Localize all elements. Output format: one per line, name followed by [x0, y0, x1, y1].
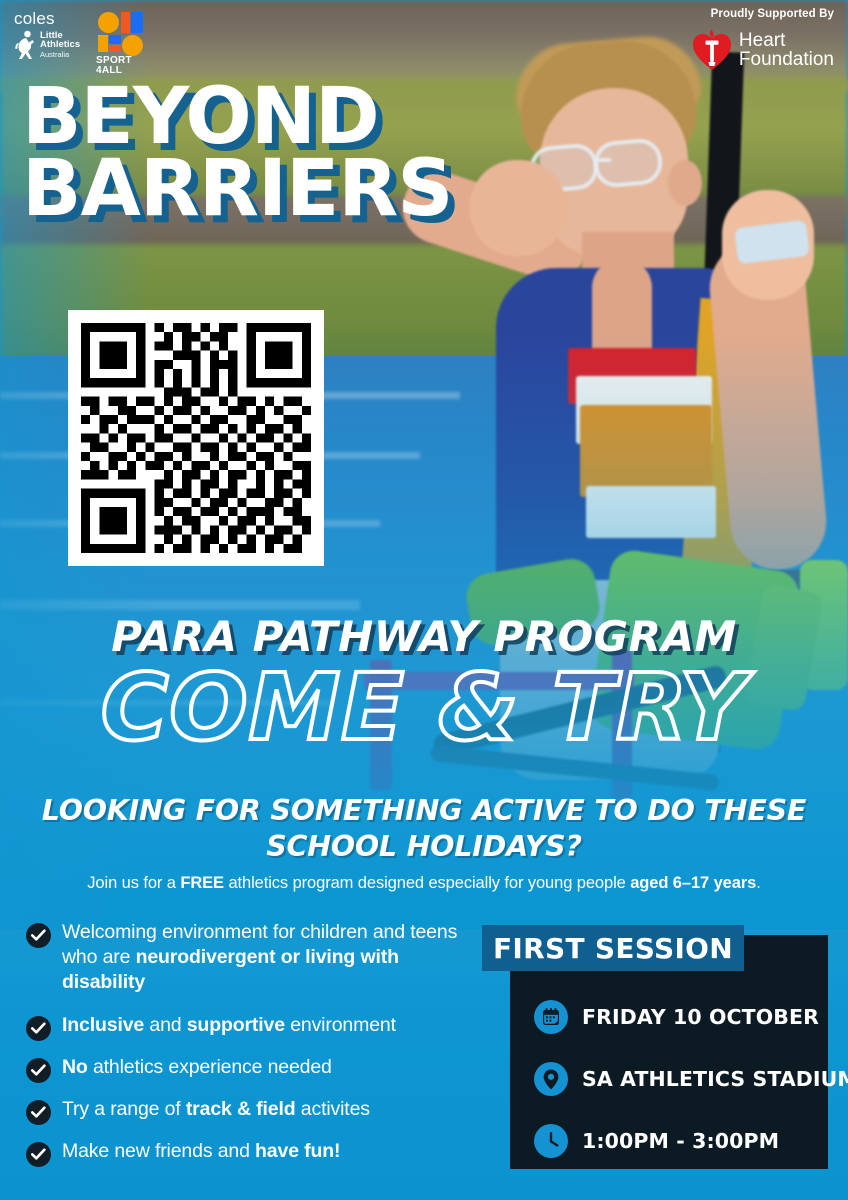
list-item-text-part: supportive — [187, 1014, 285, 1036]
list-item-label: No athletics experience needed — [62, 1055, 332, 1080]
check-icon — [26, 923, 51, 948]
list-item: Try a range of track & field activites — [26, 1097, 474, 1125]
session-detail-label: SA ATHLETICS STADIUM — [582, 1067, 848, 1091]
check-icon — [26, 1142, 51, 1167]
subline-part-2: athletics program designed especially fo… — [224, 874, 630, 892]
list-item-text-part: Try a range of — [62, 1098, 186, 1120]
subline: Join us for a FREE athletics program des… — [24, 873, 824, 894]
list-item-text-part: Inclusive — [62, 1014, 144, 1036]
list-item-text-part: athletics experience needed — [88, 1056, 332, 1078]
list-item-label: Inclusive and supportive environment — [62, 1013, 396, 1038]
subline-part-1: Join us for a — [87, 874, 180, 892]
coles-little-athletics-logo: coles Little Athletics Australia — [14, 10, 92, 72]
check-icon — [26, 1058, 51, 1083]
first-session-heading: FIRST SESSION — [493, 932, 733, 965]
qr-code[interactable] — [68, 310, 324, 566]
session-detail-row: 1:00PM - 3:00PM — [510, 1110, 828, 1172]
heart-foundation-line1: Heart — [739, 31, 834, 50]
session-detail-row: FRIDAY 10 OCTOBER — [510, 986, 828, 1048]
headline-line-2: SCHOOL HOLIDAYS? — [24, 829, 824, 865]
poster-root: coles Little Athletics Australia SPORT 4… — [0, 0, 848, 1200]
list-item: Welcoming environment for children and t… — [26, 920, 474, 995]
list-item-label: Welcoming environment for children and t… — [62, 920, 474, 995]
first-session-heading-band: FIRST SESSION — [482, 925, 744, 971]
clock-icon — [534, 1124, 568, 1158]
list-item: Inclusive and supportive environment — [26, 1013, 474, 1041]
session-detail-label: FRIDAY 10 OCTOBER — [582, 1005, 819, 1029]
list-item: No athletics experience needed — [26, 1055, 474, 1083]
list-item-label: Make new friends and have fun! — [62, 1139, 340, 1164]
location-pin-icon — [534, 1062, 568, 1096]
subline-free: FREE — [180, 874, 224, 892]
list-item: Make new friends and have fun! — [26, 1139, 474, 1167]
check-icon — [26, 1016, 51, 1041]
supporter-label: Proudly Supported By — [692, 8, 834, 20]
list-item-text-part: and — [144, 1014, 187, 1036]
coles-wordmark: coles — [14, 10, 92, 27]
heart-foundation-line2: Foundation — [739, 50, 834, 69]
subline-part-3: . — [756, 874, 760, 892]
qr-code-canvas[interactable] — [81, 323, 311, 553]
little-athletics-line2: Athletics — [40, 40, 80, 50]
list-item-text-part: Make new friends and — [62, 1140, 255, 1162]
heart-foundation-icon — [692, 29, 732, 71]
benefit-list: Welcoming environment for children and t… — [26, 920, 474, 1181]
list-item-text-part: environment — [285, 1014, 396, 1036]
title-line-2: BARRIERS — [22, 154, 452, 226]
list-item-text-part: have fun! — [255, 1140, 340, 1162]
calendar-icon — [534, 1000, 568, 1034]
list-item-text-part: activites — [296, 1098, 370, 1120]
session-detail-label: 1:00PM - 3:00PM — [582, 1129, 779, 1153]
first-session-details: FRIDAY 10 OCTOBERSA ATHLETICS STADIUM1:0… — [510, 986, 828, 1172]
little-athletics-line3: Australia — [40, 50, 80, 60]
sport4all-logo: SPORT 4ALL — [96, 12, 152, 74]
subline-age: aged 6–17 years — [630, 874, 756, 892]
check-icon — [26, 1100, 51, 1125]
sport4all-logo-icon — [98, 12, 144, 52]
list-item-text-part: track & field — [186, 1098, 296, 1120]
session-detail-row: SA ATHLETICS STADIUM — [510, 1048, 828, 1110]
list-item-label: Try a range of track & field activites — [62, 1097, 370, 1122]
headline: LOOKING FOR SOMETHING ACTIVE TO DO THESE… — [24, 793, 824, 866]
supporter-block: Proudly Supported By Heart Foundation — [692, 8, 834, 71]
little-athletics-runner-icon — [14, 30, 36, 60]
poster-title: BEYOND BARRIERS — [22, 82, 452, 226]
come-and-try-title: COME & TRY — [0, 660, 848, 757]
headline-line-1: LOOKING FOR SOMETHING ACTIVE TO DO THESE — [24, 793, 824, 829]
list-item-text-part: No — [62, 1056, 88, 1078]
